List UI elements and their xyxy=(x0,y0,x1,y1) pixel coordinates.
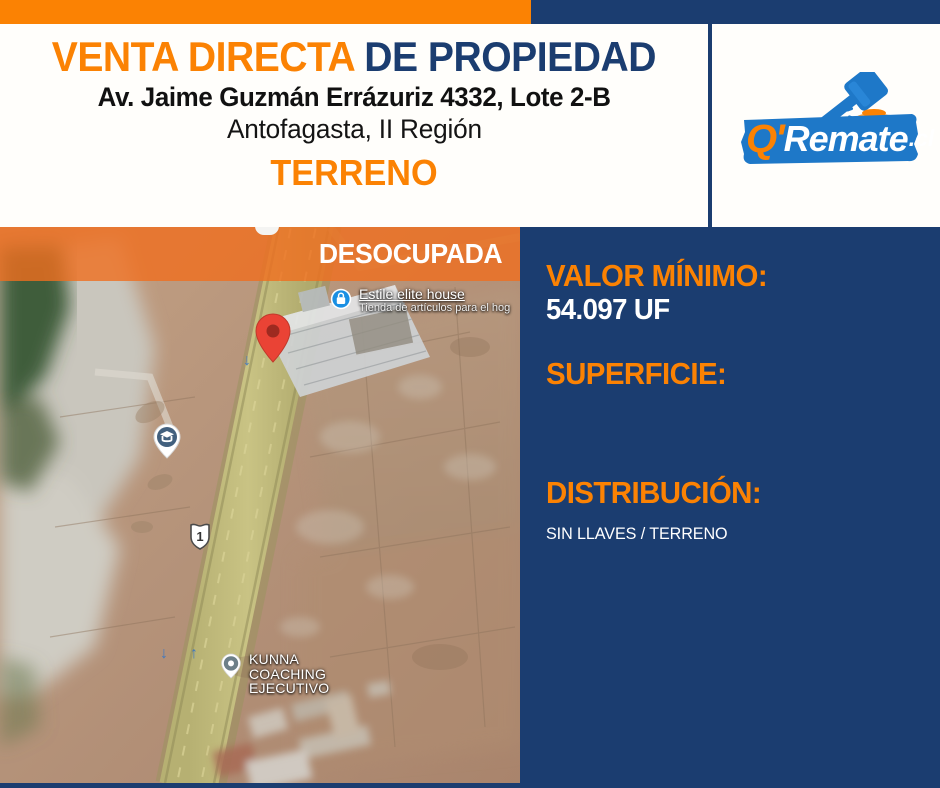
header-text-block: VENTA DIRECTA DE PROPIEDAD Av. Jaime Guz… xyxy=(0,24,708,227)
route-shield-label: 1 xyxy=(196,529,203,544)
header-band: VENTA DIRECTA DE PROPIEDAD Av. Jaime Guz… xyxy=(0,24,940,227)
top-stripe-navy xyxy=(531,0,940,24)
top-color-stripe xyxy=(0,0,940,24)
header-vertical-divider xyxy=(708,24,712,227)
status-badge-label: DESOCUPADA xyxy=(319,240,502,268)
direction-arrow-icon: ↓ xyxy=(243,352,251,370)
price-value: 54.097 UF xyxy=(546,294,896,326)
logo-wordmark: Q' Remate .cl xyxy=(746,116,922,162)
property-type-label: TERRENO xyxy=(270,155,437,191)
status-badge: DESOCUPADA xyxy=(0,227,520,281)
graduation-cap-icon[interactable] xyxy=(153,423,181,464)
top-stripe-orange xyxy=(0,0,531,24)
red-location-pin-icon[interactable] xyxy=(255,313,291,368)
map-imagery xyxy=(0,227,520,788)
distribution-value: SIN LLAVES / TERRENO xyxy=(546,524,896,544)
direction-arrow-icon: ↑ xyxy=(190,645,198,663)
address-line-1: Av. Jaime Guzmán Errázuriz 4332, Lote 2-… xyxy=(98,82,611,112)
page-title-rest: DE PROPIEDAD xyxy=(354,33,656,80)
route-shield-icon: 1 xyxy=(188,522,212,555)
details-panel: VALOR MÍNIMO: 54.097 UF SUPERFICIE: DIST… xyxy=(520,227,940,788)
logo-remate-text: Remate xyxy=(784,121,908,157)
logo-tld-text: .cl xyxy=(909,127,935,150)
surface-label: SUPERFICIE: xyxy=(546,357,896,390)
page-title-highlight: VENTA DIRECTA xyxy=(52,33,354,80)
satellite-map[interactable]: DESOCUPADA xyxy=(0,227,520,788)
brand-logo[interactable]: Q' Remate .cl xyxy=(712,24,940,227)
logo-q-text: Q' xyxy=(746,119,783,159)
distribution-label: DISTRIBUCIÓN: xyxy=(546,476,896,509)
address-line-2: Antofagasta, II Región xyxy=(227,113,482,145)
content-row: DESOCUPADA xyxy=(0,227,940,788)
direction-arrow-icon: ↓ xyxy=(160,645,168,663)
map-bottom-edge xyxy=(0,783,520,788)
page-title: VENTA DIRECTA DE PROPIEDAD xyxy=(52,36,656,78)
property-listing-poster: VENTA DIRECTA DE PROPIEDAD Av. Jaime Guz… xyxy=(0,0,940,788)
price-label: VALOR MÍNIMO: xyxy=(546,259,896,292)
